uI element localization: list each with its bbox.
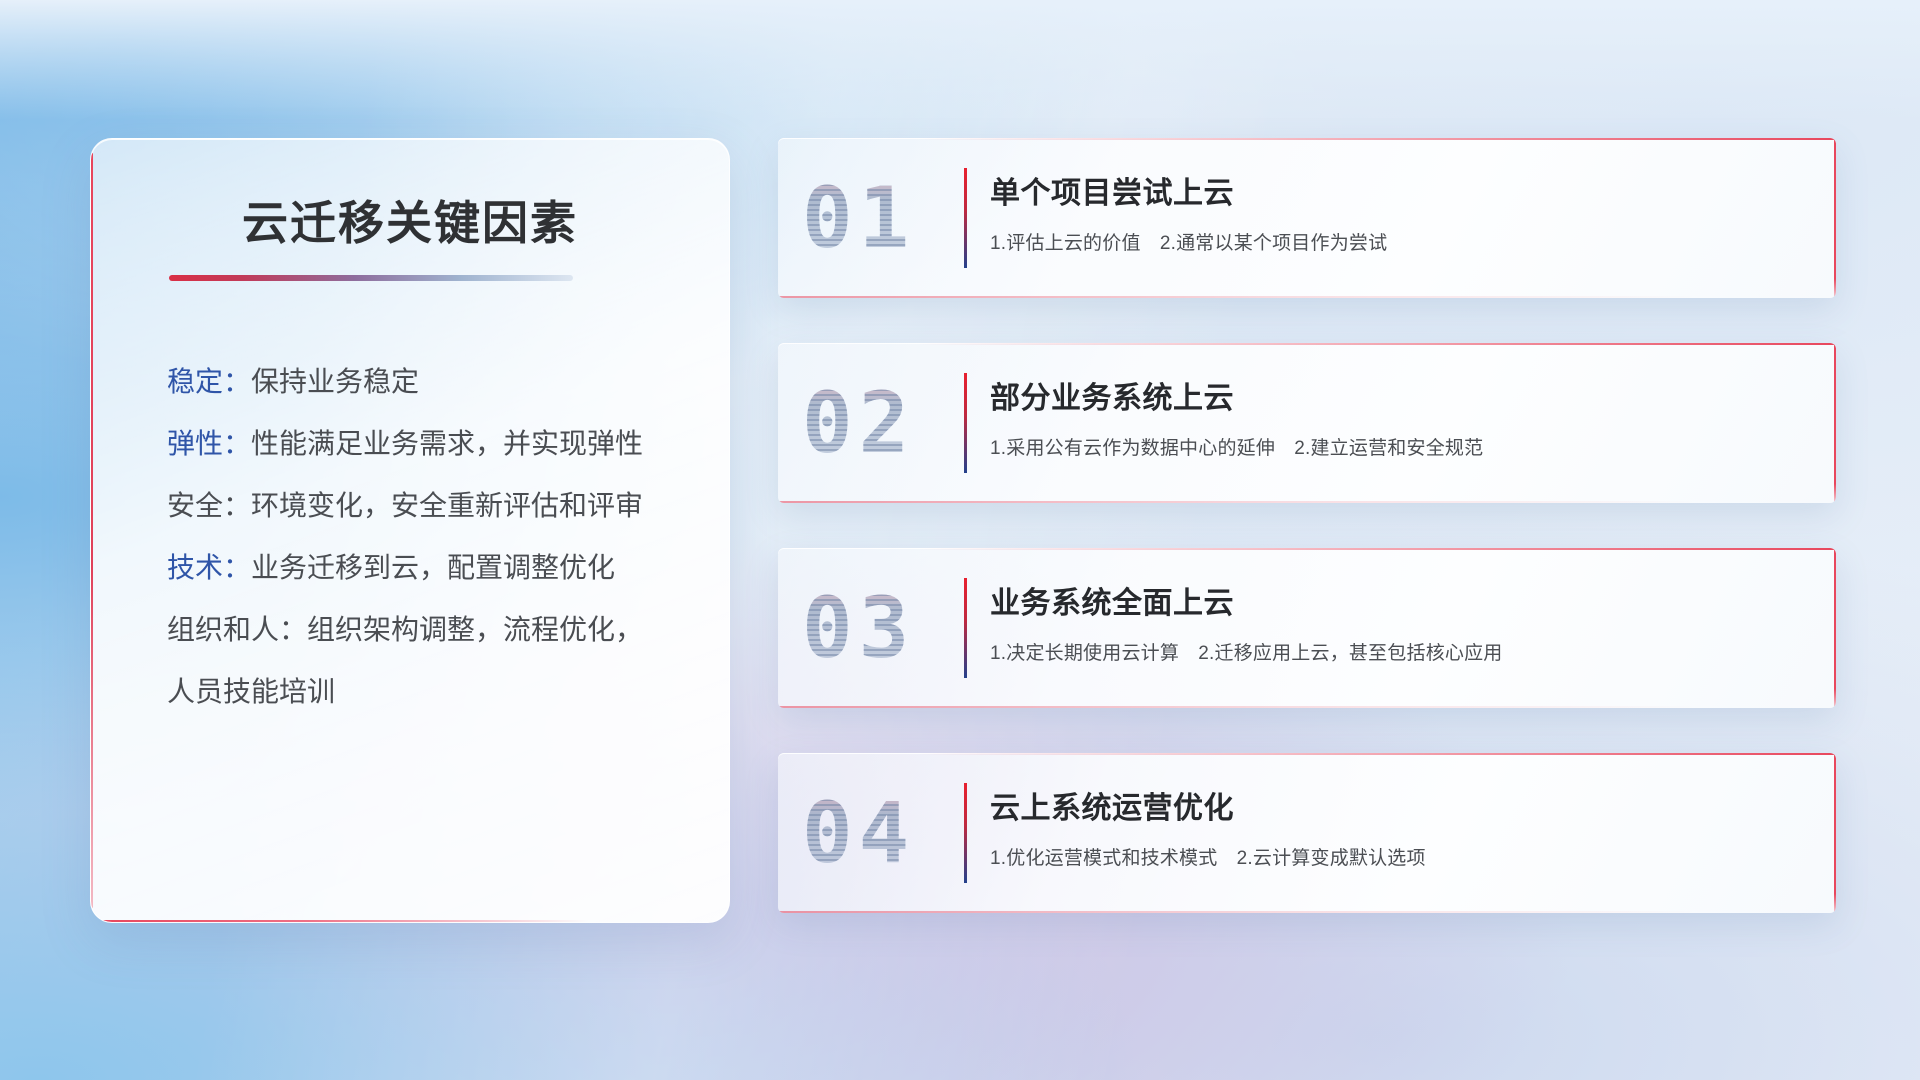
card-bottom-accent-line xyxy=(778,706,1696,708)
list-item-value: 组织架构调整，流程优化， xyxy=(307,614,643,645)
list-item-value: 业务迁移到云，配置调整优化 xyxy=(251,552,615,583)
list-item-key: 组织和人： xyxy=(167,614,307,645)
list-item-key: 稳定： xyxy=(167,366,251,397)
card-description: 1.优化运营模式和技术模式 2.云计算变成默认选项 xyxy=(990,843,1796,870)
card-body: 部分业务系统上云 1.采用公有云作为数据中心的延伸 2.建立运营和安全规范 xyxy=(990,373,1796,460)
slide-stage: 云迁移关键因素 稳定：保持业务稳定 弹性：性能满足业务需求，并实现弹性 安全：环… xyxy=(0,0,1920,1080)
card-title: 部分业务系统上云 xyxy=(990,373,1796,417)
card-bottom-accent-line xyxy=(778,911,1696,913)
list-item: 安全：环境变化，安全重新评估和评审 xyxy=(167,475,689,537)
list-item-value: 环境变化，安全重新评估和评审 xyxy=(251,490,643,521)
list-item-key: 安全： xyxy=(167,490,251,521)
card-title: 单个项目尝试上云 xyxy=(990,168,1796,212)
stage-card-04[interactable]: 04 云上系统运营优化 1.优化运营模式和技术模式 2.云计算变成默认选项 xyxy=(778,753,1836,913)
list-item: 组织和人：组织架构调整，流程优化， xyxy=(167,599,689,661)
key-factors-panel: 云迁移关键因素 稳定：保持业务稳定 弹性：性能满足业务需求，并实现弹性 安全：环… xyxy=(90,138,730,923)
card-number-watermark: 04 xyxy=(802,784,915,882)
card-top-accent-line xyxy=(918,343,1836,345)
stage-card-03[interactable]: 03 业务系统全面上云 1.决定长期使用云计算 2.迁移应用上云，甚至包括核心应… xyxy=(778,548,1836,708)
stage-card-02[interactable]: 02 部分业务系统上云 1.采用公有云作为数据中心的延伸 2.建立运营和安全规范 xyxy=(778,343,1836,503)
list-item: 稳定：保持业务稳定 xyxy=(167,351,689,413)
list-item: 弹性：性能满足业务需求，并实现弹性 xyxy=(167,413,689,475)
card-title: 云上系统运营优化 xyxy=(990,783,1796,827)
card-top-accent-line xyxy=(918,138,1836,140)
card-body: 业务系统全面上云 1.决定长期使用云计算 2.迁移应用上云，甚至包括核心应用 xyxy=(990,578,1796,665)
card-top-accent-line xyxy=(918,753,1836,755)
card-accent-bar xyxy=(964,783,967,883)
card-bottom-accent-line xyxy=(778,501,1696,503)
card-number-watermark: 03 xyxy=(802,579,915,677)
card-accent-bar xyxy=(964,373,967,473)
card-description: 1.决定长期使用云计算 2.迁移应用上云，甚至包括核心应用 xyxy=(990,638,1796,665)
card-bottom-accent-line xyxy=(778,296,1696,298)
list-item-value: 性能满足业务需求，并实现弹性 xyxy=(251,428,643,459)
list-item-key: 弹性： xyxy=(167,428,251,459)
list-item-value: 保持业务稳定 xyxy=(251,366,419,397)
card-number-watermark: 01 xyxy=(802,169,915,267)
migration-stage-cards: 01 单个项目尝试上云 1.评估上云的价值 2.通常以某个项目作为尝试 02 部… xyxy=(778,138,1836,958)
page-title: 云迁移关键因素 xyxy=(91,187,729,253)
stage-card-01[interactable]: 01 单个项目尝试上云 1.评估上云的价值 2.通常以某个项目作为尝试 xyxy=(778,138,1836,298)
card-number-watermark: 02 xyxy=(802,374,915,472)
list-item: 技术：业务迁移到云，配置调整优化 xyxy=(167,537,689,599)
card-body: 单个项目尝试上云 1.评估上云的价值 2.通常以某个项目作为尝试 xyxy=(990,168,1796,255)
card-accent-bar xyxy=(964,168,967,268)
list-item-continuation: 人员技能培训 xyxy=(167,661,689,723)
title-underline-rule xyxy=(169,275,573,281)
card-top-accent-line xyxy=(918,548,1836,550)
card-accent-bar xyxy=(964,578,967,678)
key-factors-list: 稳定：保持业务稳定 弹性：性能满足业务需求，并实现弹性 安全：环境变化，安全重新… xyxy=(167,351,689,723)
card-title: 业务系统全面上云 xyxy=(990,578,1796,622)
list-item-value: 人员技能培训 xyxy=(167,676,335,707)
card-description: 1.评估上云的价值 2.通常以某个项目作为尝试 xyxy=(990,228,1796,255)
card-body: 云上系统运营优化 1.优化运营模式和技术模式 2.云计算变成默认选项 xyxy=(990,783,1796,870)
card-description: 1.采用公有云作为数据中心的延伸 2.建立运营和安全规范 xyxy=(990,433,1796,460)
list-item-key: 技术： xyxy=(167,552,251,583)
